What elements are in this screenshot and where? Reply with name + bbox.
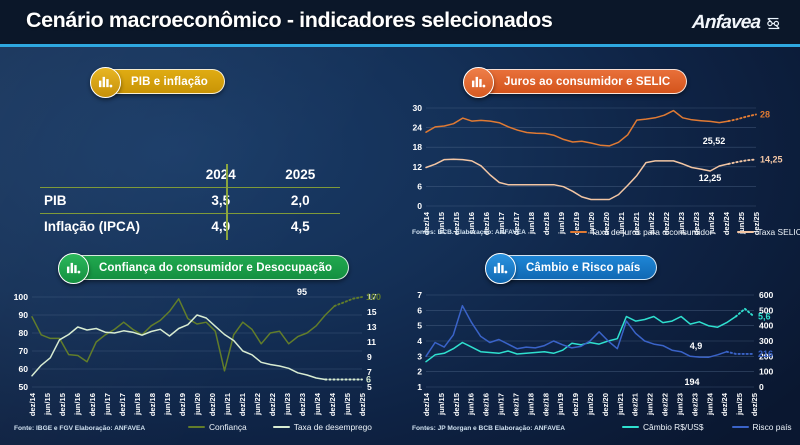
legend-label: Confiança	[209, 422, 247, 432]
anfavea-symbol-icon	[765, 15, 782, 32]
bar-chart-icon	[58, 253, 89, 284]
svg-text:60: 60	[18, 364, 28, 374]
svg-text:24: 24	[412, 123, 422, 133]
svg-text:jun/19: jun/19	[557, 212, 566, 235]
anfavea-logo: Anfavea	[692, 12, 782, 34]
svg-text:jun/20: jun/20	[586, 393, 595, 416]
svg-text:jun/23: jun/23	[283, 393, 292, 416]
svg-text:jun/17: jun/17	[497, 393, 506, 416]
legend-swatch	[622, 426, 639, 429]
legend-label: Taxa de desemprego	[294, 422, 372, 432]
svg-text:30: 30	[412, 103, 422, 113]
badge-pib-label: PIB e inflação	[131, 76, 208, 88]
bar-chart-icon	[90, 67, 121, 98]
svg-text:jun/23: jun/23	[675, 393, 684, 416]
col-head-blank	[40, 162, 181, 188]
svg-text:3: 3	[417, 351, 422, 361]
svg-text:jun/21: jun/21	[616, 392, 625, 416]
legend-item-risco: Risco país	[732, 422, 792, 432]
svg-text:dez/15: dez/15	[58, 392, 67, 416]
col-head-2025: 2025	[261, 162, 341, 188]
svg-text:0: 0	[759, 382, 764, 392]
table-row: Inflação (IPCA) 4,9 4,5	[40, 214, 340, 240]
legend-swatch	[570, 231, 587, 234]
source-cambio: Fontes: JP Morgan e BCB Elaboração: ANFA…	[412, 425, 565, 432]
svg-text:dez/16: dez/16	[482, 393, 491, 416]
svg-text:7: 7	[417, 290, 422, 300]
legend-confianca: Confiança Taxa de desemprego	[188, 422, 372, 432]
svg-text:12,25: 12,25	[699, 173, 722, 183]
legend-swatch	[737, 231, 754, 234]
table-header-row: 2024 2025	[40, 162, 340, 188]
svg-text:jun/18: jun/18	[133, 393, 142, 416]
bar-chart-icon	[463, 67, 494, 98]
svg-text:dez/22: dez/22	[661, 393, 670, 416]
svg-text:dez/23: dez/23	[298, 393, 307, 416]
svg-text:28: 28	[760, 110, 770, 120]
svg-text:jun/16: jun/16	[73, 393, 82, 416]
panel-confianca: Confiança do consumidor e Desocupação 50…	[0, 245, 400, 445]
svg-text:70: 70	[18, 346, 28, 356]
badge-cambio[interactable]: Câmbio e Risco país	[495, 255, 657, 280]
svg-text:dez/21: dez/21	[238, 392, 247, 416]
svg-text:25,52: 25,52	[703, 136, 726, 146]
source-confianca: Fonte: IBGE e FGV Elaboração: ANFAVEA	[14, 425, 145, 432]
panel-juros: Juros ao consumidor e SELIC 0612182430de…	[400, 47, 800, 245]
badge-juros[interactable]: Juros ao consumidor e SELIC	[473, 69, 687, 94]
svg-text:dez/18: dez/18	[148, 393, 157, 416]
svg-text:jun/22: jun/22	[646, 393, 655, 416]
svg-text:2: 2	[417, 367, 422, 377]
legend-label: Taxa de juros para o consumidor	[591, 227, 713, 237]
svg-text:jun/19: jun/19	[556, 393, 565, 416]
svg-text:dez/20: dez/20	[601, 393, 610, 416]
table-row: PIB 3,5 2,0	[40, 188, 340, 214]
legend-item-selic: Taxa SELIC	[737, 227, 800, 237]
chart-confianca: 506070809010057911131517dez/14jun/15dez/…	[2, 285, 400, 435]
source-juros: Fontes: BCB. Elaboração: ANFAVEA	[412, 229, 526, 236]
svg-text:jun/15: jun/15	[43, 392, 52, 416]
svg-text:0: 0	[417, 201, 422, 211]
pib-2024-value: 3,5	[181, 188, 261, 214]
svg-text:11: 11	[367, 337, 376, 347]
panel-cambio: Câmbio e Risco país 12345670100200300400…	[400, 245, 800, 445]
svg-text:9: 9	[367, 352, 372, 362]
svg-text:dez/19: dez/19	[178, 393, 187, 416]
legend-label: Câmbio R$/US$	[643, 422, 704, 432]
svg-text:95: 95	[297, 287, 307, 297]
svg-text:jun/24: jun/24	[705, 392, 714, 416]
svg-text:90: 90	[18, 310, 28, 320]
svg-text:100: 100	[14, 292, 29, 302]
legend-item-confianca: Confiança	[188, 422, 247, 432]
badge-pib[interactable]: PIB e inflação	[100, 69, 225, 94]
legend-label: Taxa SELIC	[758, 227, 800, 237]
svg-text:dez/23: dez/23	[690, 393, 699, 416]
svg-text:1: 1	[417, 382, 422, 392]
svg-text:6: 6	[417, 305, 422, 315]
svg-text:5: 5	[417, 321, 422, 331]
slide-root: Cenário macroeconômico - indicadores sel…	[0, 0, 800, 445]
svg-text:13: 13	[367, 322, 377, 332]
svg-text:6: 6	[366, 375, 371, 385]
page-title: Cenário macroeconômico - indicadores sel…	[26, 8, 552, 33]
svg-text:dez/24: dez/24	[328, 392, 337, 416]
legend-juros: Taxa de juros para o consumidor Taxa SEL…	[570, 227, 800, 237]
svg-text:dez/17: dez/17	[118, 393, 127, 416]
legend-item-juros-consumidor: Taxa de juros para o consumidor	[570, 227, 713, 237]
row-label-ipca: Inflação (IPCA)	[40, 214, 181, 240]
badge-confianca-label: Confiança do consumidor e Desocupação	[99, 262, 332, 274]
svg-text:jun/21: jun/21	[223, 392, 232, 416]
svg-text:jun/18: jun/18	[526, 393, 535, 416]
svg-text:4,9: 4,9	[690, 341, 703, 351]
badge-cambio-label: Câmbio e Risco país	[526, 262, 640, 274]
svg-text:jun/17: jun/17	[103, 393, 112, 416]
svg-text:6: 6	[417, 181, 422, 191]
row-label-pib: PIB	[40, 188, 181, 214]
svg-text:300: 300	[759, 336, 774, 346]
svg-text:12: 12	[412, 162, 422, 172]
svg-text:dez/16: dez/16	[88, 393, 97, 416]
svg-text:dez/25: dez/25	[750, 392, 759, 416]
legend-label: Risco país	[753, 422, 792, 432]
svg-text:15: 15	[367, 307, 377, 317]
svg-text:dez/24: dez/24	[720, 392, 729, 416]
header-bar: Cenário macroeconômico - indicadores sel…	[0, 0, 800, 47]
bar-chart-icon	[485, 253, 516, 284]
svg-text:dez/18: dez/18	[542, 212, 551, 235]
svg-text:jun/16: jun/16	[467, 393, 476, 416]
svg-text:50: 50	[18, 382, 28, 392]
table-vertical-divider	[226, 164, 228, 240]
svg-text:dez/21: dez/21	[631, 392, 640, 416]
svg-text:dez/15: dez/15	[452, 392, 461, 416]
svg-text:dez/14: dez/14	[28, 392, 37, 416]
svg-text:100: 100	[366, 292, 381, 302]
pib-2025-value: 2,0	[261, 188, 341, 214]
svg-text:14,25: 14,25	[760, 154, 783, 164]
svg-text:18: 18	[412, 142, 422, 152]
svg-text:jun/15: jun/15	[437, 392, 446, 416]
chart-cambio: 12345670100200300400500600dez/14jun/15de…	[402, 285, 800, 435]
svg-text:5,6: 5,6	[758, 311, 771, 321]
svg-text:400: 400	[759, 321, 774, 331]
panel-pib: PIB e inflação 2024 2025 PIB 3,5 2,0	[0, 47, 400, 245]
pib-table: 2024 2025 PIB 3,5 2,0 Inflação (IPCA) 4,…	[40, 162, 340, 239]
legend-item-cambio: Câmbio R$/US$	[622, 422, 704, 432]
svg-text:jun/22: jun/22	[253, 393, 262, 416]
svg-text:jun/20: jun/20	[193, 393, 202, 416]
svg-text:80: 80	[18, 328, 28, 338]
legend-swatch	[732, 426, 749, 429]
svg-text:jun/19: jun/19	[163, 393, 172, 416]
col-head-2024: 2024	[181, 162, 261, 188]
svg-text:dez/19: dez/19	[571, 393, 580, 416]
legend-swatch	[188, 426, 205, 429]
svg-text:dez/20: dez/20	[208, 393, 217, 416]
svg-text:jun/24: jun/24	[313, 392, 322, 416]
svg-text:dez/22: dez/22	[268, 393, 277, 416]
svg-text:dez/25: dez/25	[358, 392, 367, 416]
svg-text:100: 100	[759, 367, 774, 377]
svg-text:216: 216	[758, 349, 773, 359]
svg-text:dez/14: dez/14	[422, 392, 431, 416]
legend-swatch	[273, 426, 290, 429]
svg-text:jun/25: jun/25	[735, 392, 744, 416]
badge-juros-label: Juros ao consumidor e SELIC	[504, 76, 670, 88]
svg-text:194: 194	[684, 377, 699, 387]
svg-text:dez/17: dez/17	[511, 393, 520, 416]
badge-confianca[interactable]: Confiança do consumidor e Desocupação	[68, 255, 349, 280]
svg-text:dez/18: dez/18	[541, 393, 550, 416]
legend-item-desemprego: Taxa de desemprego	[273, 422, 372, 432]
logo-wordmark: Anfavea	[691, 12, 760, 34]
ipca-2024-value: 4,9	[181, 214, 261, 240]
svg-text:jun/25: jun/25	[343, 392, 352, 416]
legend-cambio: Câmbio R$/US$ Risco país	[622, 422, 792, 432]
ipca-2025-value: 4,5	[261, 214, 341, 240]
svg-text:600: 600	[759, 290, 774, 300]
svg-text:4: 4	[417, 336, 422, 346]
svg-text:jun/18: jun/18	[527, 212, 536, 235]
